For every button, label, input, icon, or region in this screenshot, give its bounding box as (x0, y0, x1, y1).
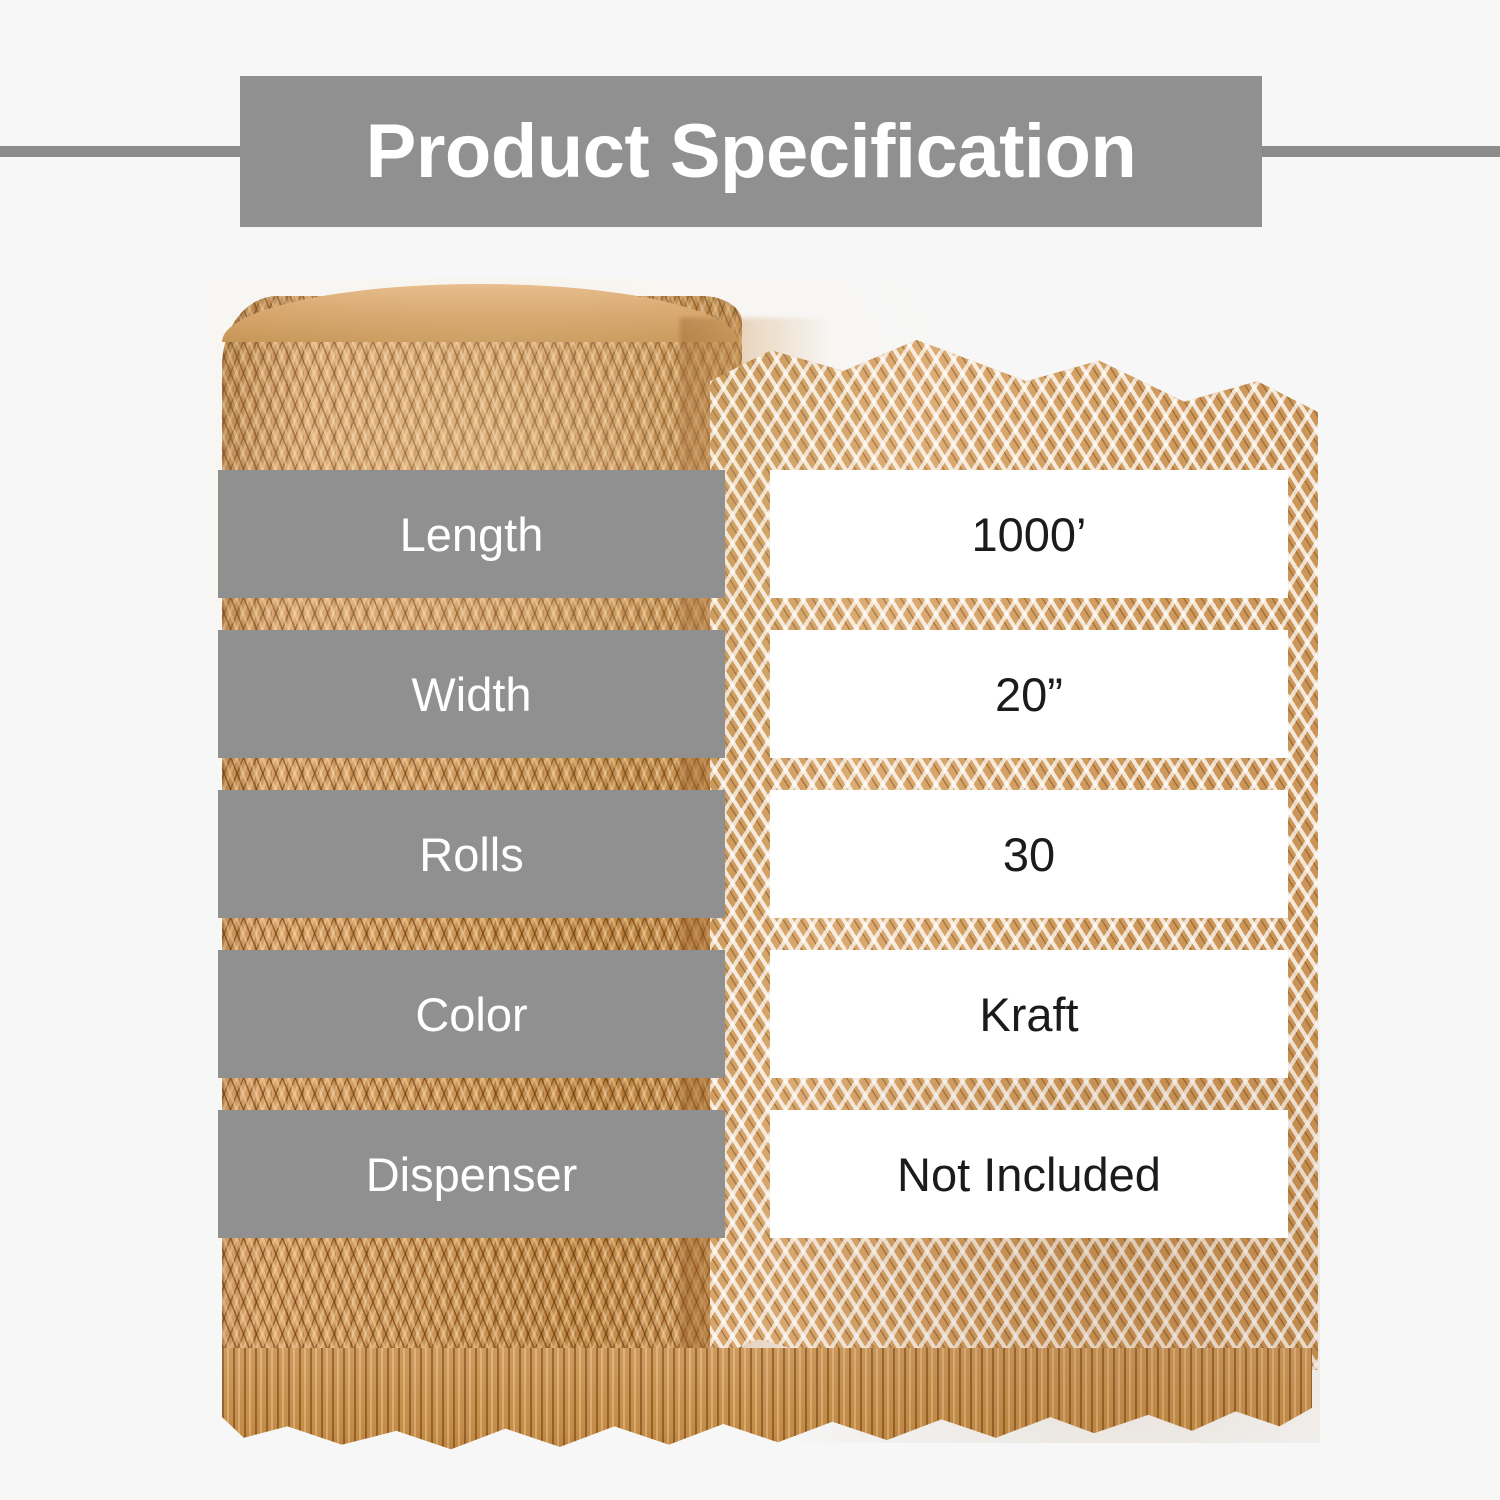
spec-row-gap (725, 470, 770, 598)
spec-label-dispenser: Dispenser (218, 1110, 725, 1238)
spec-label-width: Width (218, 630, 725, 758)
spec-value-length: 1000’ (770, 470, 1288, 598)
spec-value-width: 20” (770, 630, 1288, 758)
spec-label-text: Rolls (419, 831, 523, 878)
spec-row-gap (725, 1110, 770, 1238)
paper-torn-bottom-edge (222, 1348, 1312, 1463)
table-row: Rolls 30 (218, 790, 1288, 918)
spec-value-text: 20” (995, 671, 1063, 718)
specification-table: Length 1000’ Width 20” Rolls 30 (218, 470, 1288, 1238)
spec-row-gap (725, 630, 770, 758)
paper-roll-top-edge (222, 284, 738, 342)
spec-label-length: Length (218, 470, 725, 598)
spec-value-text: Kraft (979, 991, 1078, 1038)
spec-label-color: Color (218, 950, 725, 1078)
spec-label-text: Width (411, 671, 531, 718)
spec-label-text: Dispenser (366, 1151, 578, 1198)
spec-label-rolls: Rolls (218, 790, 725, 918)
spec-row-gap (725, 950, 770, 1078)
product-specification-infographic: Product Specification Length 1000’ Width (0, 0, 1500, 1500)
table-row: Length 1000’ (218, 470, 1288, 598)
spec-value-color: Kraft (770, 950, 1288, 1078)
spec-value-text: Not Included (897, 1151, 1161, 1198)
spec-label-text: Color (415, 991, 527, 1038)
spec-value-text: 1000’ (972, 511, 1087, 558)
spec-value-dispenser: Not Included (770, 1110, 1288, 1238)
table-row: Dispenser Not Included (218, 1110, 1288, 1238)
title-banner: Product Specification (240, 76, 1262, 227)
table-row: Color Kraft (218, 950, 1288, 1078)
table-row: Width 20” (218, 630, 1288, 758)
spec-value-text: 30 (1003, 831, 1055, 878)
spec-label-text: Length (400, 511, 544, 558)
spec-row-gap (725, 790, 770, 918)
page-title: Product Specification (366, 114, 1137, 190)
spec-value-rolls: 30 (770, 790, 1288, 918)
